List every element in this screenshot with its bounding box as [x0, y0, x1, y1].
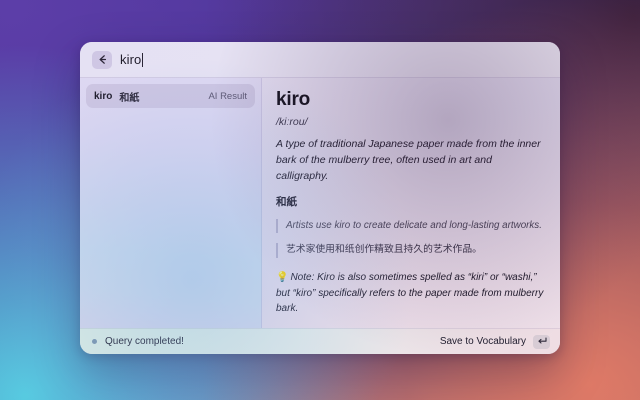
desktop-background: kiro kiro 和紙 AI Result kiro /kiːrou/ A t… — [0, 0, 640, 400]
list-item[interactable]: kiro 和紙 AI Result — [86, 84, 255, 108]
search-bar: kiro — [80, 42, 560, 78]
definition-text: A type of traditional Japanese paper mad… — [276, 137, 546, 185]
result-term: kiro — [94, 91, 112, 102]
search-input[interactable]: kiro — [120, 52, 143, 67]
status-badge: AI Result — [208, 91, 247, 102]
pronunciation: /kiːrou/ — [276, 116, 546, 128]
status-bar: Query completed! Save to Vocabulary — [80, 328, 560, 354]
status-indicator-dot — [92, 339, 97, 344]
text-caret — [142, 53, 143, 67]
usage-note: 💡Note: Kiro is also sometimes spelled as… — [276, 270, 546, 317]
status-message: Query completed! — [105, 336, 184, 347]
example-sentence-en: Artists use kiro to create delicate and … — [276, 219, 546, 234]
usage-note-text: Note: Kiro is also sometimes spelled as … — [276, 272, 543, 314]
translation-text: 和紙 — [276, 194, 546, 209]
example-sentence-zh: 艺术家使用和纸创作精致且持久的艺术作品。 — [276, 243, 546, 258]
window-body: kiro 和紙 AI Result kiro /kiːrou/ A type o… — [80, 78, 560, 328]
back-arrow-icon[interactable] — [92, 51, 112, 69]
page-title: kiro — [276, 90, 546, 111]
entry-content-panel: kiro /kiːrou/ A type of traditional Japa… — [262, 78, 560, 328]
search-input-value: kiro — [120, 52, 141, 67]
return-key-icon[interactable] — [533, 335, 550, 349]
save-to-vocabulary-button[interactable]: Save to Vocabulary — [440, 336, 526, 347]
lightbulb-icon: 💡 — [276, 272, 288, 283]
results-sidebar: kiro 和紙 AI Result — [80, 78, 262, 328]
status-bar-actions: Save to Vocabulary — [440, 335, 550, 349]
dictionary-app-window: kiro kiro 和紙 AI Result kiro /kiːrou/ A t… — [80, 42, 560, 354]
result-cjk-term: 和紙 — [119, 89, 139, 104]
